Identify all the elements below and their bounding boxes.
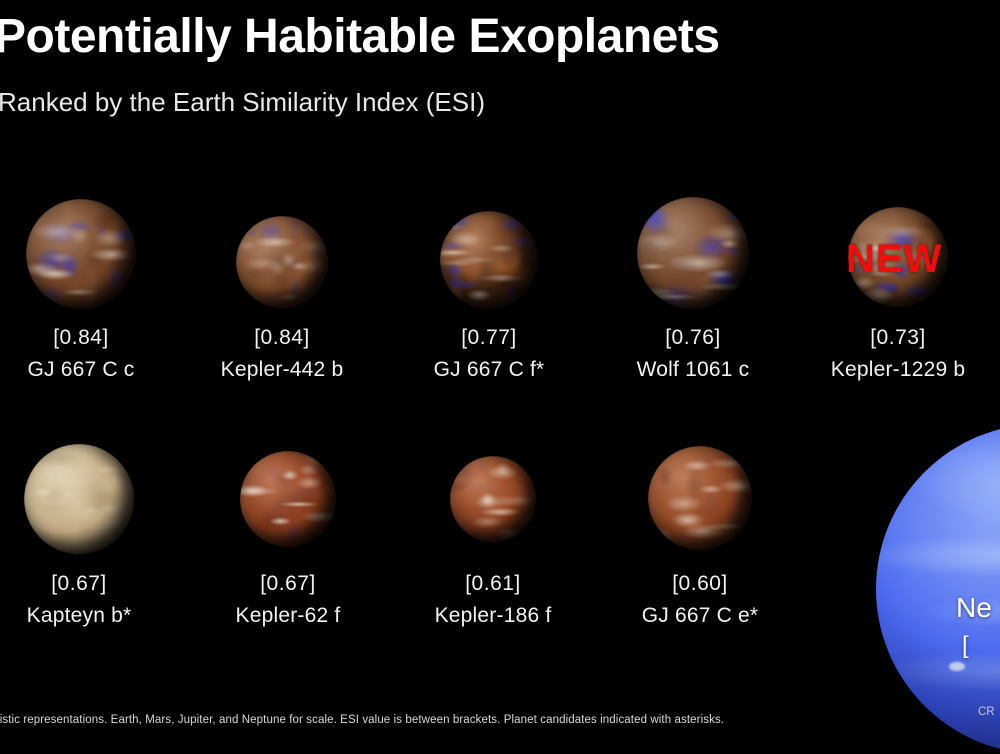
- planet-name: GJ 667 C e*: [595, 604, 805, 628]
- planet-limb-shadow: [236, 216, 328, 308]
- planet-esi-value: [0.77]: [384, 326, 594, 350]
- planet-sphere[interactable]: [637, 197, 749, 309]
- planet-name: Kepler-442 b: [177, 358, 387, 382]
- planet-esi-value: [0.73]: [793, 326, 1000, 350]
- planet-sphere[interactable]: [236, 216, 328, 308]
- scale-reference-neptune: Ne [: [876, 424, 1000, 754]
- planet-name: GJ 667 C f*: [384, 358, 594, 382]
- planet-esi-value: [0.67]: [183, 572, 393, 596]
- neptune-shading: [876, 424, 1000, 754]
- page-title: Potentially Habitable Exoplanets: [0, 12, 720, 62]
- planet-limb-shadow: [450, 456, 536, 542]
- planet-esi-value: [0.84]: [0, 326, 186, 350]
- new-badge: NEW: [846, 237, 942, 282]
- planet-limb-shadow: [26, 199, 136, 309]
- planet-name: Kepler-1229 b: [793, 358, 1000, 382]
- planet-name: Wolf 1061 c: [588, 358, 798, 382]
- neptune-sphere: [876, 424, 1000, 754]
- footnote-text: artistic representations. Earth, Mars, J…: [0, 714, 724, 726]
- planet-sphere[interactable]: [648, 446, 752, 550]
- planet-sphere[interactable]: [26, 199, 136, 309]
- planet-sphere[interactable]: [24, 444, 134, 554]
- planet-sphere[interactable]: [240, 451, 336, 547]
- planet-sphere[interactable]: [450, 456, 536, 542]
- planet-esi-value: [0.60]: [595, 572, 805, 596]
- planet-name: GJ 667 C c: [0, 358, 186, 382]
- planet-limb-shadow: [24, 444, 134, 554]
- planet-esi-value: [0.76]: [588, 326, 798, 350]
- planet-name: Kepler-62 f: [183, 604, 393, 628]
- planet-esi-value: [0.61]: [388, 572, 598, 596]
- neptune-esi: [: [962, 632, 969, 660]
- planet-name: Kepler-186 f: [388, 604, 598, 628]
- planet-esi-value: [0.84]: [177, 326, 387, 350]
- neptune-label: Ne: [956, 592, 992, 624]
- planet-limb-shadow: [648, 446, 752, 550]
- page-subtitle: Ranked by the Earth Similarity Index (ES…: [0, 88, 485, 117]
- credit-text: CR: [978, 706, 995, 718]
- planet-limb-shadow: [240, 451, 336, 547]
- infographic-poster: Potentially Habitable Exoplanets Ranked …: [0, 0, 1000, 748]
- planet-name: Kapteyn b*: [0, 604, 184, 628]
- planet-esi-value: [0.67]: [0, 572, 184, 596]
- planet-limb-shadow: [440, 211, 538, 309]
- planet-limb-shadow: [637, 197, 749, 309]
- planet-sphere[interactable]: [440, 211, 538, 309]
